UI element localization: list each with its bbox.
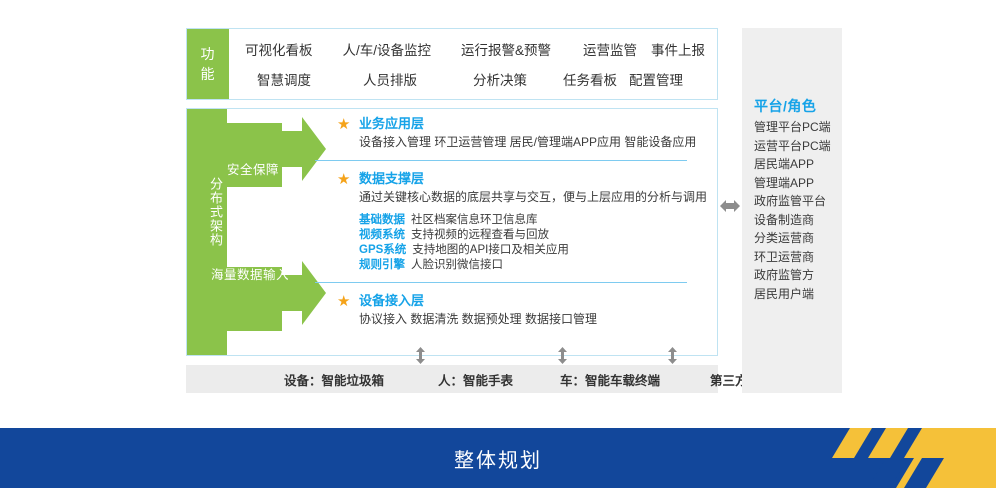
platform-role-item[interactable]: 管理平台PC端 bbox=[754, 118, 831, 137]
function-items-container: 可视化看板人/车/设备监控运行报警&预警运营监管事件上报 智慧调度人员排版分析决… bbox=[229, 29, 717, 99]
layer-subitem: GPS系统支持地图的API接口及相关应用 bbox=[359, 243, 711, 258]
architecture-panel: 分布式架构 安全保障 海量数据输入 ★业务应用层设备接入管理 环卫运营管理 居民… bbox=[186, 108, 718, 356]
device-input-label: 车：智能车载终端 bbox=[560, 370, 660, 389]
star-icon: ★ bbox=[337, 173, 351, 187]
arrow-label-security: 安全保障 bbox=[227, 159, 279, 178]
banner-title-text: 整体规划 bbox=[0, 428, 996, 488]
vertical-double-arrow-icon bbox=[416, 347, 425, 364]
function-row-label: 功 能 bbox=[187, 29, 229, 99]
platform-role-list: 管理平台PC端运营平台PC端居民端APP管理端APP政府监管平台设备制造商分类运… bbox=[754, 118, 831, 303]
layer-subitem-value: 支持地图的API接口及相关应用 bbox=[412, 244, 569, 256]
function-item[interactable]: 可视化看板 bbox=[245, 39, 313, 59]
platform-role-item[interactable]: 分类运营商 bbox=[754, 229, 831, 248]
platform-role-item[interactable]: 政府监管方 bbox=[754, 266, 831, 285]
platform-role-title: 平台/角色 bbox=[754, 96, 816, 116]
function-item[interactable]: 人/车/设备监控 bbox=[343, 39, 432, 59]
layer-title: 设备接入层 bbox=[359, 292, 711, 309]
platform-role-panel: 平台/角色 管理平台PC端运营平台PC端居民端APP管理端APP政府监管平台设备… bbox=[742, 28, 842, 393]
layer-block: ★业务应用层设备接入管理 环卫运营管理 居民/管理端APP应用 智能设备应用 bbox=[337, 115, 711, 151]
platform-role-item[interactable]: 环卫运营商 bbox=[754, 248, 831, 267]
platform-role-item[interactable]: 居民端APP bbox=[754, 155, 831, 174]
layer-block: ★设备接入层协议接入 数据清洗 数据预处理 数据接口管理 bbox=[337, 292, 711, 328]
layer-subitem: 规则引擎人脸识别微信接口 bbox=[359, 258, 711, 273]
platform-role-item[interactable]: 政府监管平台 bbox=[754, 192, 831, 211]
function-item[interactable]: 分析决策 bbox=[473, 69, 527, 89]
layer-subitem-key: 基础数据 bbox=[359, 214, 405, 226]
vertical-double-arrow-icon bbox=[668, 347, 677, 364]
star-icon: ★ bbox=[337, 118, 351, 132]
bottom-banner: 整体规划 bbox=[0, 428, 996, 488]
architecture-vertical-label: 分布式架构 bbox=[190, 177, 224, 247]
star-icon: ★ bbox=[337, 295, 351, 309]
function-item[interactable]: 运营监管 bbox=[583, 39, 637, 59]
function-row-line-1: 可视化看板人/车/设备监控运行报警&预警运营监管事件上报 bbox=[245, 34, 717, 64]
function-item[interactable]: 任务看板 bbox=[563, 69, 617, 89]
layer-title: 业务应用层 bbox=[359, 115, 711, 132]
device-input-bar: 设备：智能垃圾箱人：智能手表车：智能车载终端第三方平台接口 bbox=[186, 365, 718, 393]
horizontal-double-arrow-icon bbox=[720, 198, 740, 214]
function-item[interactable]: 智慧调度 bbox=[257, 69, 311, 89]
platform-role-item[interactable]: 管理端APP bbox=[754, 174, 831, 193]
device-input-label: 设备：智能垃圾箱 bbox=[284, 370, 384, 389]
vertical-double-arrow-icon bbox=[558, 347, 567, 364]
layer-subitem-key: GPS系统 bbox=[359, 244, 406, 256]
platform-role-item[interactable]: 运营平台PC端 bbox=[754, 137, 831, 156]
function-row: 功 能 可视化看板人/车/设备监控运行报警&预警运营监管事件上报 智慧调度人员排… bbox=[186, 28, 718, 100]
device-input-label: 人：智能手表 bbox=[438, 370, 513, 389]
layer-subitem-value: 社区档案信息环卫信息库 bbox=[411, 214, 538, 226]
layer-description: 协议接入 数据清洗 数据预处理 数据接口管理 bbox=[359, 311, 711, 328]
function-item[interactable]: 配置管理 bbox=[629, 69, 683, 89]
layers-container: ★业务应用层设备接入管理 环卫运营管理 居民/管理端APP应用 智能设备应用★数… bbox=[337, 115, 711, 328]
layer-subitem-list: 基础数据社区档案信息环卫信息库视频系统支持视频的远程查看与回放GPS系统支持地图… bbox=[359, 213, 711, 273]
function-label-char-2: 能 bbox=[201, 64, 216, 84]
function-row-line-2: 智慧调度人员排版分析决策任务看板配置管理 bbox=[245, 64, 717, 94]
layer-subitem-key: 规则引擎 bbox=[359, 259, 405, 271]
layer-subitem: 基础数据社区档案信息环卫信息库 bbox=[359, 213, 711, 228]
function-item[interactable]: 运行报警&预警 bbox=[461, 39, 551, 59]
layer-subitem-value: 支持视频的远程查看与回放 bbox=[411, 229, 549, 241]
layer-divider bbox=[315, 160, 687, 161]
layer-subitem: 视频系统支持视频的远程查看与回放 bbox=[359, 228, 711, 243]
function-label-char-1: 功 bbox=[201, 44, 216, 64]
layer-subitem-value: 人脸识别微信接口 bbox=[411, 259, 503, 271]
arrow-label-data-input: 海量数据输入 bbox=[211, 264, 289, 283]
layer-block: ★数据支撑层通过关键核心数据的底层共享与交互，便与上层应用的分析与调用基础数据社… bbox=[337, 170, 711, 273]
layer-description: 通过关键核心数据的底层共享与交互，便与上层应用的分析与调用 bbox=[359, 189, 711, 206]
platform-role-item[interactable]: 居民用户端 bbox=[754, 285, 831, 304]
layer-divider bbox=[315, 282, 687, 283]
function-item[interactable]: 人员排版 bbox=[363, 69, 417, 89]
function-item[interactable]: 事件上报 bbox=[651, 39, 705, 59]
layer-title: 数据支撑层 bbox=[359, 170, 711, 187]
layer-subitem-key: 视频系统 bbox=[359, 229, 405, 241]
layer-description: 设备接入管理 环卫运营管理 居民/管理端APP应用 智能设备应用 bbox=[359, 134, 711, 151]
platform-role-item[interactable]: 设备制造商 bbox=[754, 211, 831, 230]
